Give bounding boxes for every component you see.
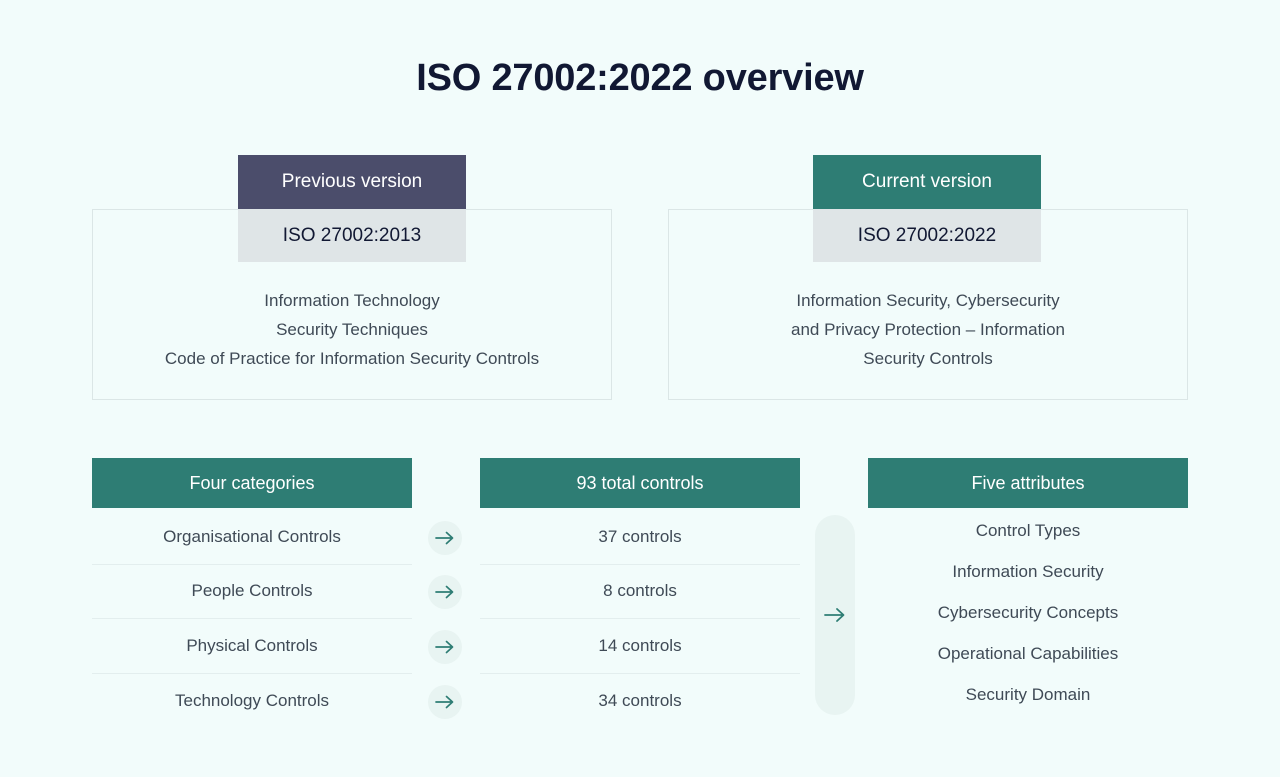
current-version-code: ISO 27002:2022 — [813, 209, 1041, 262]
arrow-right-icon — [428, 521, 462, 555]
infographic-canvas: ISO 27002:2022 overview Previous version… — [0, 0, 1280, 777]
description-line: Security Techniques — [276, 320, 428, 339]
previous-version-banner-label: Previous version — [282, 171, 422, 193]
previous-version-description: Information TechnologySecurity Technique… — [102, 286, 602, 373]
attribute-row-label: Control Types — [976, 521, 1081, 541]
control-count-row-label: 37 controls — [598, 527, 681, 547]
attribute-row: Security Domain — [868, 674, 1188, 715]
attribute-row-label: Security Domain — [966, 685, 1091, 705]
description-line: Security Controls — [863, 349, 992, 368]
description-line: Information Technology — [264, 291, 439, 310]
previous-version-code: ISO 27002:2013 — [238, 209, 466, 262]
control-count-row-label: 34 controls — [598, 691, 681, 711]
control-count-row: 37 controls — [480, 510, 800, 565]
current-version-banner: Current version — [813, 155, 1041, 209]
attribute-row: Information Security — [868, 551, 1188, 592]
column-header-controls: 93 total controls — [480, 458, 800, 508]
category-row: Technology Controls — [92, 674, 412, 729]
attributes-list: Control TypesInformation SecurityCyberse… — [868, 510, 1188, 715]
previous-version-banner: Previous version — [238, 155, 466, 209]
column-header-attributes: Five attributes — [868, 458, 1188, 508]
column-header-categories-label: Four categories — [189, 473, 314, 494]
page-title: ISO 27002:2022 overview — [0, 57, 1280, 100]
description-line: and Privacy Protection – Information — [791, 320, 1065, 339]
previous-version-code-label: ISO 27002:2013 — [283, 225, 421, 247]
control-count-row: 14 controls — [480, 619, 800, 674]
description-line: Code of Practice for Information Securit… — [165, 349, 539, 368]
attribute-row-label: Cybersecurity Concepts — [938, 603, 1118, 623]
controls-list: 37 controls8 controls14 controls34 contr… — [480, 510, 800, 728]
category-row: Organisational Controls — [92, 510, 412, 565]
column-header-attributes-label: Five attributes — [971, 473, 1084, 494]
attribute-row: Control Types — [868, 510, 1188, 551]
column-header-controls-label: 93 total controls — [576, 473, 703, 494]
description-line: Information Security, Cybersecurity — [796, 291, 1059, 310]
current-version-description: Information Security, Cybersecurityand P… — [678, 286, 1178, 373]
attribute-row: Cybersecurity Concepts — [868, 592, 1188, 633]
control-count-row-label: 8 controls — [603, 581, 677, 601]
current-version-banner-label: Current version — [862, 171, 992, 193]
category-row-label: People Controls — [192, 581, 313, 601]
control-count-row: 34 controls — [480, 674, 800, 729]
group-arrow-right-icon — [815, 515, 855, 715]
categories-list: Organisational ControlsPeople ControlsPh… — [92, 510, 412, 728]
arrow-right-icon — [428, 630, 462, 664]
category-row-label: Organisational Controls — [163, 527, 341, 547]
attribute-row-label: Operational Capabilities — [938, 644, 1119, 664]
control-count-row: 8 controls — [480, 565, 800, 620]
arrow-right-icon — [428, 575, 462, 609]
attribute-row-label: Information Security — [952, 562, 1103, 582]
category-row-label: Technology Controls — [175, 691, 329, 711]
control-count-row-label: 14 controls — [598, 636, 681, 656]
category-row: People Controls — [92, 565, 412, 620]
current-version-code-label: ISO 27002:2022 — [858, 225, 996, 247]
attribute-row: Operational Capabilities — [868, 633, 1188, 674]
category-row: Physical Controls — [92, 619, 412, 674]
category-row-label: Physical Controls — [186, 636, 317, 656]
arrow-right-icon — [428, 685, 462, 719]
column-header-categories: Four categories — [92, 458, 412, 508]
